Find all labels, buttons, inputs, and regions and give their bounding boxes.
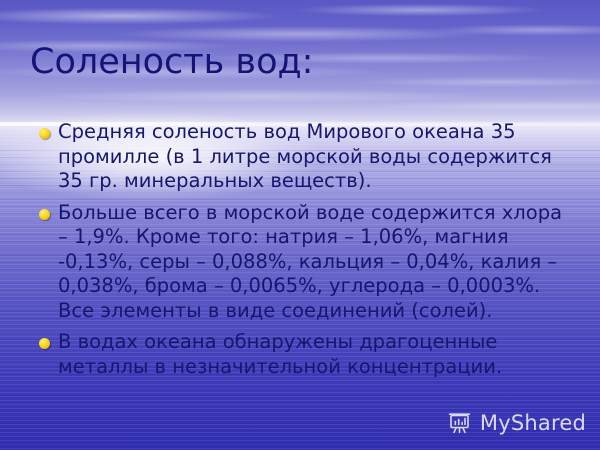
list-item: Средняя соленость вод Мирового океана 35…: [30, 120, 575, 194]
bullet-list: Средняя соленость вод Мирового океана 35…: [30, 120, 575, 386]
list-item-text: Средняя соленость вод Мирового океана 35…: [58, 120, 575, 194]
presentation-chart-icon: [447, 410, 473, 436]
list-item: В водах океана обнаружены драгоценные ме…: [30, 330, 575, 379]
bullet-dot-icon: [39, 128, 50, 139]
bullet-dot-icon: [39, 338, 50, 349]
myshared-watermark: MyShared: [447, 410, 586, 436]
watermark-label: MyShared: [480, 413, 586, 434]
slide-content: Соленость вод: Средняя соленость вод Мир…: [0, 0, 600, 450]
presentation-slide: Соленость вод: Средняя соленость вод Мир…: [0, 0, 600, 450]
slide-title: Соленость вод:: [30, 42, 313, 82]
bullet-dot-icon: [39, 209, 50, 220]
list-item-text: В водах океана обнаружены драгоценные ме…: [58, 330, 575, 379]
list-item: Больше всего в морской воде содержится х…: [30, 201, 575, 324]
list-item-text: Больше всего в морской воде содержится х…: [58, 201, 575, 324]
